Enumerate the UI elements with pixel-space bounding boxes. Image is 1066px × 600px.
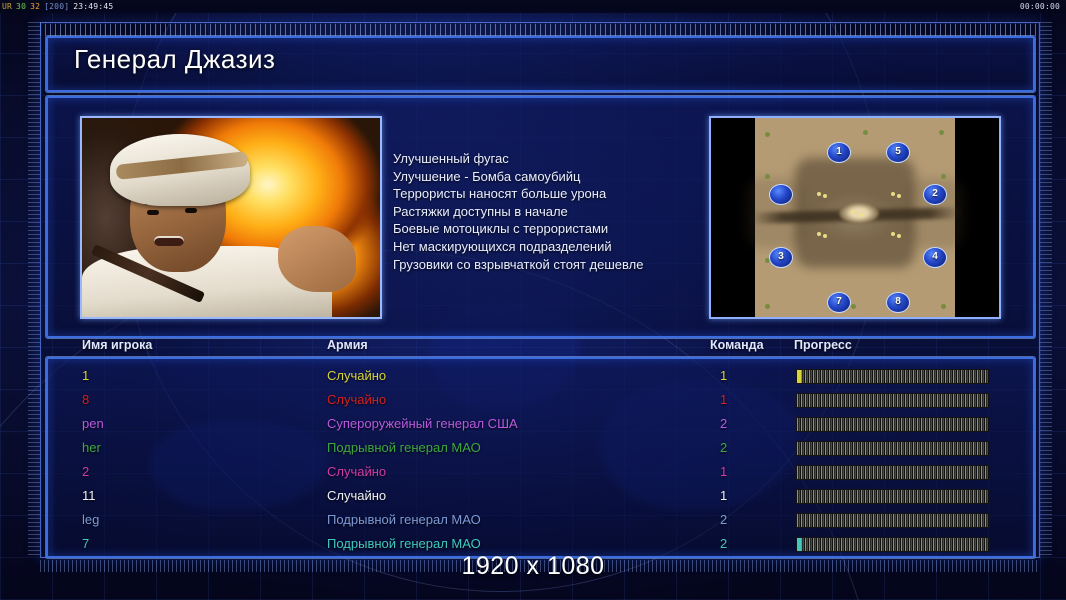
status-clock-right: 00:00:00 [1020,0,1060,13]
status-clock: 23:49:45 [71,0,115,13]
title-panel: Генерал Джазиз [46,36,1035,92]
player-name: her [82,436,101,460]
table-row[interactable]: 2Случайно1 [48,460,1033,484]
media-panel: Улучшенный фугас Улучшение - Бомба самоу… [46,96,1035,338]
player-army: Подрывной генерал МАО [327,436,481,460]
table-row[interactable]: 11Случайно1 [48,484,1033,508]
resource-marker [897,234,901,238]
column-header-team: Команда [710,338,764,352]
status-label-ur: UR [0,0,14,13]
player-army: Случайно [327,388,386,412]
ability-line: Растяжки доступны в начале [393,203,713,221]
general-portrait [80,116,382,319]
status-bar: UR3032[200]23:49:45 00:00:00 [0,0,1066,13]
game-lobby-screen: UR3032[200]23:49:45 00:00:00 Генерал Джа… [0,0,1066,600]
resource-marker [823,234,827,238]
player-team: 1 [720,460,727,484]
eye-left [147,210,159,215]
mouth-shape [154,236,184,246]
start-position-marker-5[interactable]: 5 [886,142,910,163]
resource-marker [817,192,821,196]
progress-bar-ticks [797,466,989,479]
progress-bar-ticks [797,490,989,503]
start-position-marker-8[interactable]: 8 [886,292,910,313]
table-row[interactable]: legПодрывной генерал МАО2 [48,508,1033,532]
player-name: 2 [82,460,89,484]
status-value-b: 32 [28,0,42,13]
table-row[interactable]: penСупероружейный генерал США2 [48,412,1033,436]
player-team: 1 [720,388,727,412]
player-name: leg [82,508,99,532]
progress-bar [796,489,990,504]
progress-bar [796,369,990,384]
player-name: pen [82,412,104,436]
ruler-right [1040,22,1052,556]
column-header-army: Армия [327,338,368,352]
progress-bar [796,441,990,456]
player-team: 2 [720,508,727,532]
status-value-c: [200] [42,0,71,13]
resource-marker [891,192,895,196]
player-army: Супероружейный генерал США [327,412,518,436]
player-name: 11 [82,484,96,508]
player-team: 1 [720,484,727,508]
tree-marker [851,304,856,309]
ability-line: Грузовики со взрывчаткой стоят дешевле [393,256,713,274]
column-header-progress: Прогресс [794,338,852,352]
start-position-marker-2[interactable]: 2 [923,184,947,205]
resource-marker [859,213,863,217]
arm-shape [278,226,356,292]
tree-marker [941,304,946,309]
resource-marker [851,210,855,214]
start-position-marker-empty[interactable] [769,184,793,205]
player-army: Случайно [327,460,386,484]
table-row[interactable]: herПодрывной генерал МАО2 [48,436,1033,460]
tree-marker [939,130,944,135]
resource-marker [817,232,821,236]
player-army: Случайно [327,484,386,508]
progress-bar-ticks [797,370,989,383]
tree-marker [863,130,868,135]
player-team: 1 [720,364,727,388]
progress-bar-ticks [797,442,989,455]
ability-line: Боевые мотоциклы с террористами [393,220,713,238]
resource-marker [891,232,895,236]
player-team: 2 [720,436,727,460]
general-ability-list: Улучшенный фугас Улучшение - Бомба самоу… [393,150,713,273]
player-team: 2 [720,412,727,436]
ability-line: Нет маскирующихся подразделений [393,238,713,256]
ability-line: Улучшение - Бомба самоубийц [393,168,713,186]
progress-bar-fill [797,538,801,551]
eye-right [185,208,197,213]
ability-line: Террористы наносят больше урона [393,185,713,203]
tree-marker [941,174,946,179]
page-title: Генерал Джазиз [74,44,275,75]
resolution-overlay: 1920 x 1080 [0,552,1066,581]
player-name: 1 [82,364,89,388]
player-name: 8 [82,388,89,412]
column-header-name: Имя игрока [82,338,152,352]
progress-bar [796,393,990,408]
player-army: Случайно [327,364,386,388]
resource-marker [897,194,901,198]
start-position-marker-7[interactable]: 7 [827,292,851,313]
progress-bar-ticks [797,538,989,551]
progress-bar [796,513,990,528]
start-position-marker-1[interactable]: 1 [827,142,851,163]
player-army: Подрывной генерал МАО [327,508,481,532]
progress-bar [796,417,990,432]
progress-bar-ticks [797,514,989,527]
tree-marker [765,132,770,137]
ruler-left [28,22,40,556]
tree-marker [765,304,770,309]
progress-bar [796,465,990,480]
progress-bar [796,537,990,552]
status-value-a: 30 [14,0,28,13]
progress-bar-ticks [797,418,989,431]
map-preview[interactable]: 1523478 [709,116,1001,319]
start-position-marker-4[interactable]: 4 [923,247,947,268]
start-position-marker-3[interactable]: 3 [769,247,793,268]
table-row[interactable]: 8Случайно1 [48,388,1033,412]
resource-marker [823,194,827,198]
player-table: 1Случайно18Случайно1penСупероружейный ге… [46,357,1035,558]
progress-bar-fill [797,370,801,383]
table-header-row: Имя игрока Армия Команда Прогресс [46,338,1031,356]
tree-marker [765,174,770,179]
ability-line: Улучшенный фугас [393,150,713,168]
table-row[interactable]: 1Случайно1 [48,364,1033,388]
map-terrain: 1523478 [755,118,955,317]
progress-bar-ticks [797,394,989,407]
